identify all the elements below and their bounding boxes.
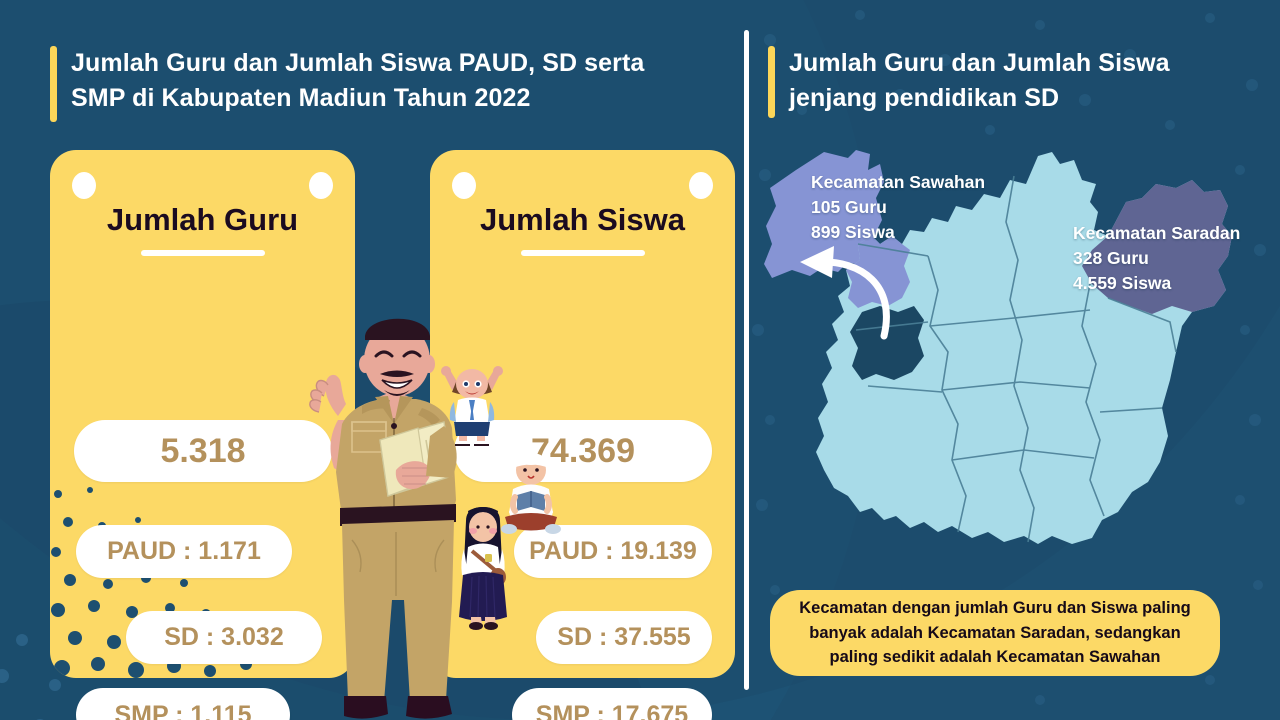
- card-punch-hole-left: [72, 172, 96, 199]
- card-punch-hole-right: [689, 172, 713, 199]
- summary-note-line-1: Kecamatan dengan jumlah Guru dan Siswa p…: [799, 596, 1191, 621]
- map-label-saradan-siswa: 4.559 Siswa: [1073, 271, 1240, 296]
- left-title-line-1: Jumlah Guru dan Jumlah Siswa PAUD, SD se…: [71, 46, 644, 81]
- map-label-sawahan: Kecamatan Sawahan 105 Guru 899 Siswa: [811, 170, 985, 245]
- row-pill-smp: SMP : 1.115: [76, 688, 290, 720]
- card-punch-hole-right: [309, 172, 333, 199]
- row-pill-sd: SD : 37.555: [536, 611, 712, 664]
- student-girl-illustration: [452, 505, 514, 630]
- card-heading-underline: [141, 250, 265, 256]
- left-title-text: Jumlah Guru dan Jumlah Siswa PAUD, SD se…: [71, 46, 644, 115]
- map-label-sawahan-siswa: 899 Siswa: [811, 220, 985, 245]
- right-title-line-2: jenjang pendidikan SD: [789, 81, 1170, 116]
- map-label-saradan-name: Kecamatan Saradan: [1073, 221, 1240, 246]
- left-title-accent-bar: [50, 46, 57, 122]
- card-punch-hole-left: [452, 172, 476, 199]
- right-title-text: Jumlah Guru dan Jumlah Siswa jenjang pen…: [789, 46, 1170, 115]
- right-title-accent-bar: [768, 46, 775, 118]
- summary-note-text: Kecamatan dengan jumlah Guru dan Siswa p…: [799, 596, 1191, 670]
- summary-note-line-3: paling sedikit adalah Kecamatan Sawahan: [799, 645, 1191, 670]
- right-title-line-1: Jumlah Guru dan Jumlah Siswa: [789, 46, 1170, 81]
- left-title-line-2: SMP di Kabupaten Madiun Tahun 2022: [71, 81, 644, 116]
- map-label-sawahan-guru: 105 Guru: [811, 195, 985, 220]
- right-title: Jumlah Guru dan Jumlah Siswa jenjang pen…: [768, 46, 1238, 128]
- map-label-saradan: Kecamatan Saradan 328 Guru 4.559 Siswa: [1073, 221, 1240, 296]
- map-label-sawahan-name: Kecamatan Sawahan: [811, 170, 985, 195]
- card-heading-underline: [521, 250, 645, 256]
- infographic-canvas: Jumlah Guru dan Jumlah Siswa PAUD, SD se…: [0, 0, 1280, 720]
- card-heading: Jumlah Guru: [50, 202, 355, 238]
- card-heading: Jumlah Siswa: [430, 202, 735, 238]
- summary-note-box: Kecamatan dengan jumlah Guru dan Siswa p…: [770, 590, 1220, 676]
- map-label-saradan-guru: 328 Guru: [1073, 246, 1240, 271]
- student-boy-cheering-illustration: [436, 360, 508, 446]
- summary-note-line-2: banyak adalah Kecamatan Saradan, sedangk…: [799, 621, 1191, 646]
- vertical-divider: [744, 30, 749, 690]
- row-pill-paud: PAUD : 1.171: [76, 525, 292, 578]
- row-pill-smp: SMP : 17.675: [512, 688, 712, 720]
- left-title: Jumlah Guru dan Jumlah Siswa PAUD, SD se…: [50, 46, 710, 128]
